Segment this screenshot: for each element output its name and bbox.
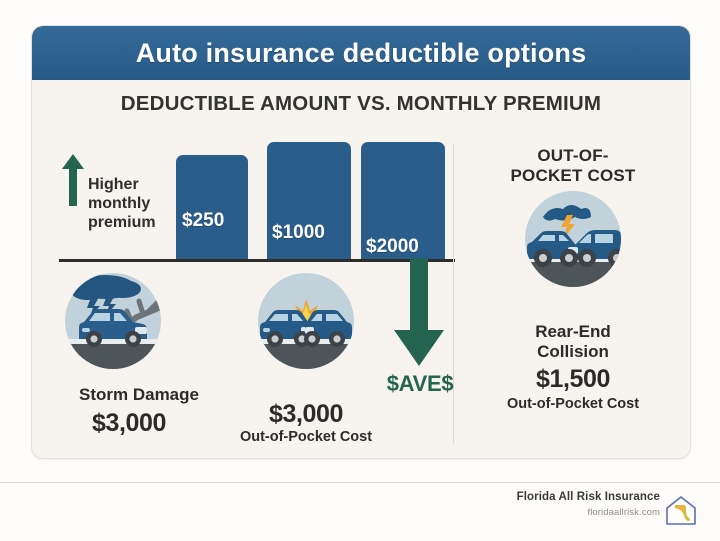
rear-end-collision-icon [525,191,621,287]
bar-deductible-250 [176,155,248,260]
brand-block: Florida All Risk Insurance floridaallris… [470,491,660,518]
rear-end-collision-label-line-2: Collision [462,342,684,362]
infographic-root: Auto insurance deductible options DEDUCT… [0,0,720,541]
axis-note-line-1: Higher [88,175,170,194]
brand-name: Florida All Risk Insurance [470,491,660,503]
infographic-card: Auto insurance deductible options DEDUCT… [31,25,691,459]
footer-divider [0,482,720,483]
storm-damage-amount: $3,000 [32,409,226,438]
head-on-collision-sub: Out-of-Pocket Cost [228,429,384,445]
rear-end-collision-illustration [525,191,621,287]
storm-damage-illustration [65,273,161,369]
bar-label-250: $250 [182,210,224,232]
axis-note-higher-premium: Higher monthly premium [88,175,170,232]
rear-end-collision-amount: $1,500 [462,365,684,394]
rear-end-collision-sub: Out-of-Pocket Cost [462,396,684,412]
house-florida-logo-icon [664,493,698,527]
head-on-collision-icon [258,273,354,369]
bar-label-2000: $2000 [366,236,419,258]
right-panel-heading-line-2: POCKET COST [462,166,684,186]
savings-down-arrow-icon [394,258,444,366]
axis-note-line-2: monthly [88,194,170,213]
storm-damage-car-icon [65,273,161,369]
head-on-collision-illustration [258,273,354,369]
higher-premium-arrow-icon [62,154,84,206]
rear-end-collision-label-line-1: Rear-End [462,322,684,342]
brand-url: floridaallrisk.com [470,507,660,518]
axis-note-line-3: premium [88,213,170,232]
right-panel-heading: OUT-OF- POCKET COST [462,146,684,186]
head-on-collision-amount: $3,000 [228,400,384,429]
right-panel-heading-line-1: OUT-OF- [462,146,684,166]
storm-damage-label: Storm Damage [32,385,246,405]
bar-label-1000: $1000 [272,222,325,244]
panel-divider [453,144,454,444]
